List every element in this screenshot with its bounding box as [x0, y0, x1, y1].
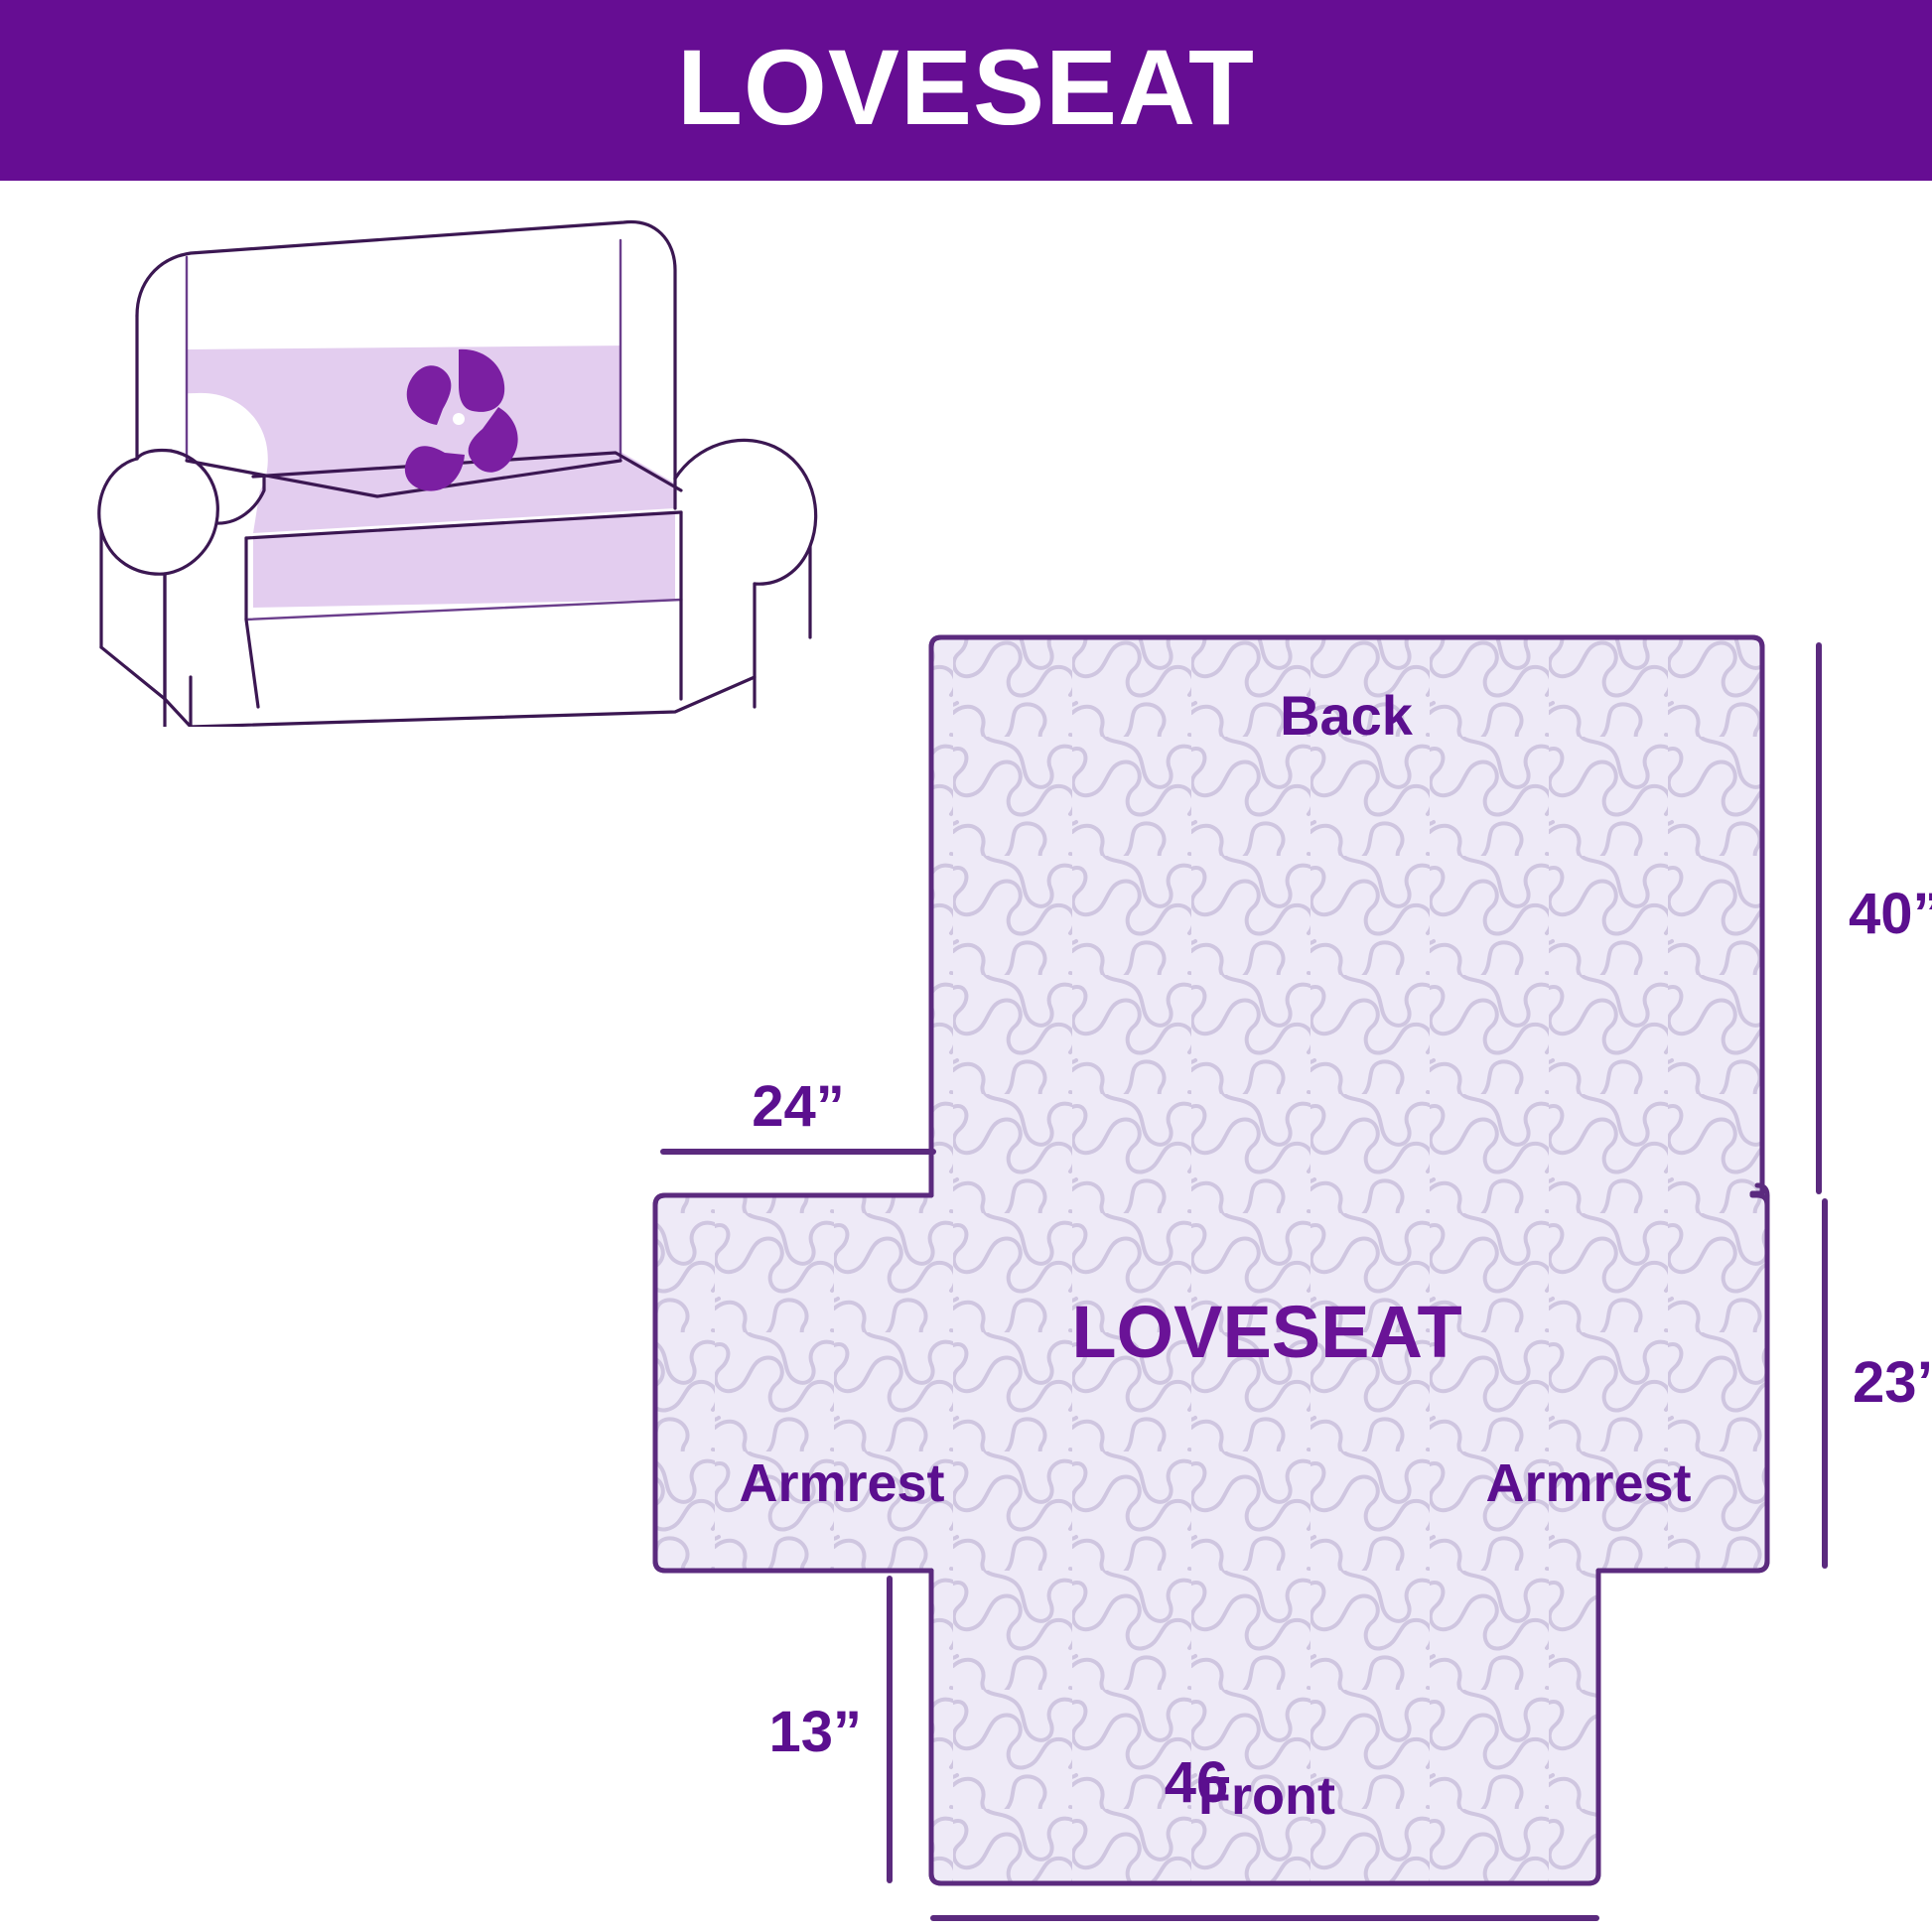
panel-label-back: Back	[1280, 684, 1414, 747]
header-banner: LOVESEAT	[0, 0, 1932, 181]
diagram-stage: .so { fill: none; stroke: #3B1752; strok…	[0, 181, 1932, 1932]
dimension-label-back-height: 40”	[1849, 882, 1932, 946]
dimension-label-armrest-depth: 23”	[1853, 1350, 1932, 1415]
dimension-label-front-width: 46	[1165, 1750, 1229, 1815]
panel-label-armrest-left: Armrest	[739, 1453, 944, 1513]
dimension-label-front-height: 13”	[768, 1700, 862, 1764]
panel-label-armrest-right: Armrest	[1485, 1453, 1691, 1513]
cover-center-label: LOVESEAT	[1071, 1291, 1461, 1373]
dimension-label-back-width: 24”	[752, 1074, 845, 1139]
page-title: LOVESEAT	[677, 34, 1255, 141]
dimension-label-front-width-wrapper: 46	[1142, 1749, 1251, 1816]
cover-cross-diagram: Back Armrest Armrest Front LOVESEAT 40” …	[596, 618, 1932, 1932]
